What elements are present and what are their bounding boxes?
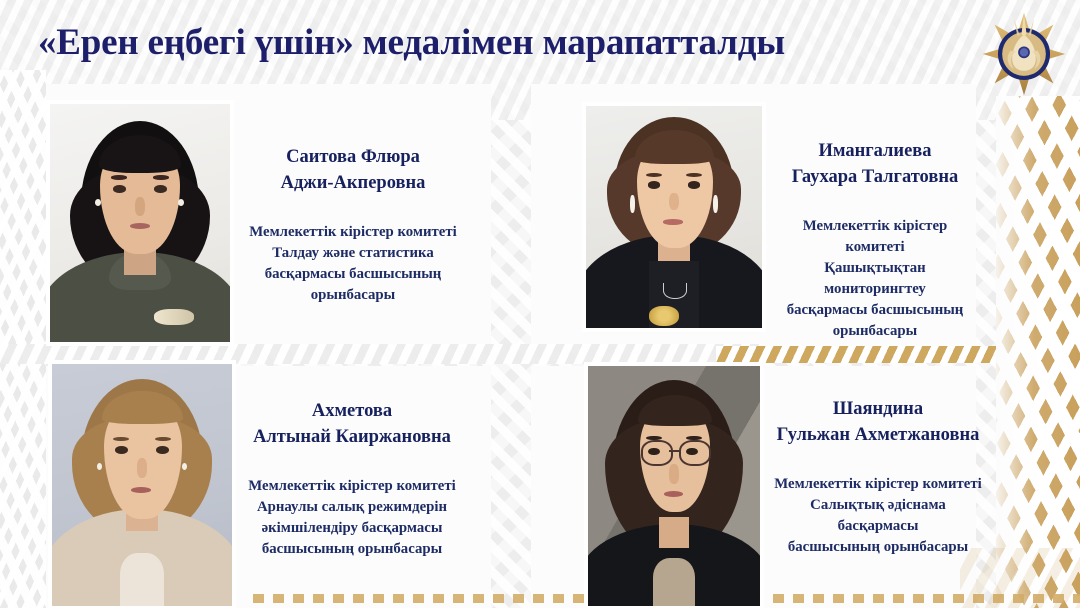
emblem-star-icon bbox=[982, 12, 1066, 96]
awardee-text-ahmetova: Ахметова Алтынай Каиржановна Мемлекеттік… bbox=[232, 362, 492, 560]
awardee-role: Мемлекеттік кірістер комитеті Салықтық ә… bbox=[768, 474, 988, 558]
awardee-photo-ahmetova bbox=[52, 364, 232, 606]
awardee-photo-shayandina bbox=[588, 366, 760, 606]
awardee-name: Ахметова Алтынай Каиржановна bbox=[236, 398, 468, 450]
awardee-photo-imangalieva bbox=[586, 106, 762, 328]
awardee-name: Шаяндина Гульжан Ахметжановна bbox=[768, 396, 988, 448]
awardee-card-imangalieva: Имангалиева Гаухара Талгатовна Мемлекетт… bbox=[560, 100, 1030, 350]
awardee-text-imangalieva: Имангалиева Гаухара Талгатовна Мемлекетт… bbox=[762, 100, 1030, 342]
awardee-card-shayandina: Шаяндина Гульжан Ахметжановна Мемлекетті… bbox=[562, 362, 1030, 606]
page-title: «Ерен еңбегі үшін» медалімен марапатталд… bbox=[38, 22, 968, 64]
awardee-text-shayandina: Шаяндина Гульжан Ахметжановна Мемлекетті… bbox=[760, 362, 1030, 558]
slide-header: «Ерен еңбегі үшін» медалімен марапатталд… bbox=[0, 0, 1080, 86]
state-revenue-committee-emblem bbox=[978, 8, 1070, 100]
awardee-text-saitova: Саитова Флюра Аджи-Акперовна Мемлекеттік… bbox=[230, 100, 492, 306]
awardee-role: Мемлекеттік кірістер комитеті Арнаулы са… bbox=[236, 476, 468, 560]
slide-canvas: «Ерен еңбегі үшін» медалімен марапатталд… bbox=[0, 0, 1080, 608]
awardee-name: Саитова Флюра Аджи-Акперовна bbox=[236, 144, 470, 196]
awardee-role: Мемлекеттік кірістер комитеті Талдау жән… bbox=[236, 222, 470, 306]
awardee-role: Мемлекеттік кірістер комитеті Қашықтықта… bbox=[772, 216, 978, 342]
awardee-name: Имангалиева Гаухара Талгатовна bbox=[772, 138, 978, 190]
awardee-photo-saitova bbox=[50, 104, 230, 342]
awardee-card-saitova: Саитова Флюра Аджи-Акперовна Мемлекеттік… bbox=[46, 100, 492, 350]
awardee-card-ahmetova: Ахметова Алтынай Каиржановна Мемлекеттік… bbox=[40, 362, 492, 606]
